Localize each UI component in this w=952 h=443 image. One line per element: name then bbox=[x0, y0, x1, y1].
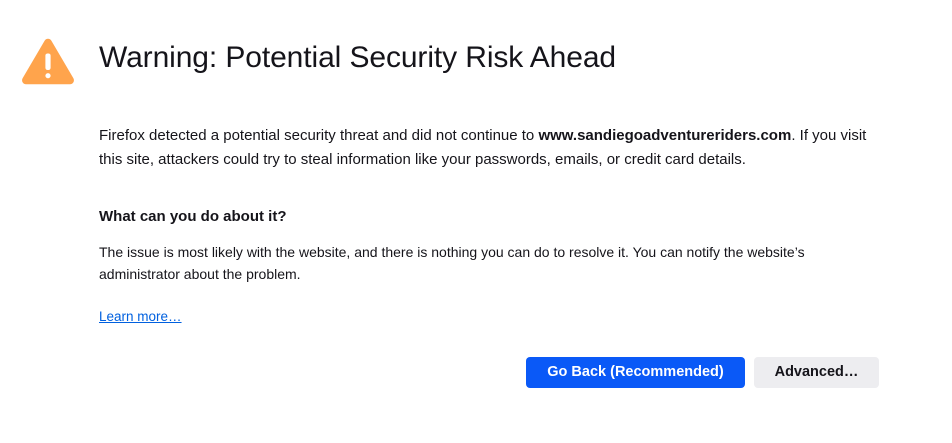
warning-triangle-icon bbox=[20, 34, 76, 90]
certificate-error-page: Warning: Potential Security Risk Ahead F… bbox=[0, 0, 952, 443]
advanced-button[interactable]: Advanced… bbox=[754, 357, 879, 388]
blocked-hostname: www.sandiegoadventureriders.com bbox=[538, 127, 791, 144]
learn-more-row: Learn more… bbox=[99, 307, 881, 327]
what-can-you-do-heading: What can you do about it? bbox=[99, 205, 881, 229]
learn-more-link[interactable]: Learn more… bbox=[99, 309, 182, 324]
explanation-text: The issue is most likely with the websit… bbox=[99, 241, 869, 285]
threat-description: Firefox detected a potential security th… bbox=[99, 124, 881, 171]
threat-description-lead: Firefox detected a potential security th… bbox=[99, 127, 538, 144]
action-buttons: Go Back (Recommended) Advanced… bbox=[526, 357, 879, 388]
error-body: Firefox detected a potential security th… bbox=[99, 124, 881, 327]
page-title: Warning: Potential Security Risk Ahead bbox=[99, 39, 616, 77]
page-header: Warning: Potential Security Risk Ahead bbox=[0, 34, 880, 90]
go-back-button[interactable]: Go Back (Recommended) bbox=[526, 357, 745, 388]
